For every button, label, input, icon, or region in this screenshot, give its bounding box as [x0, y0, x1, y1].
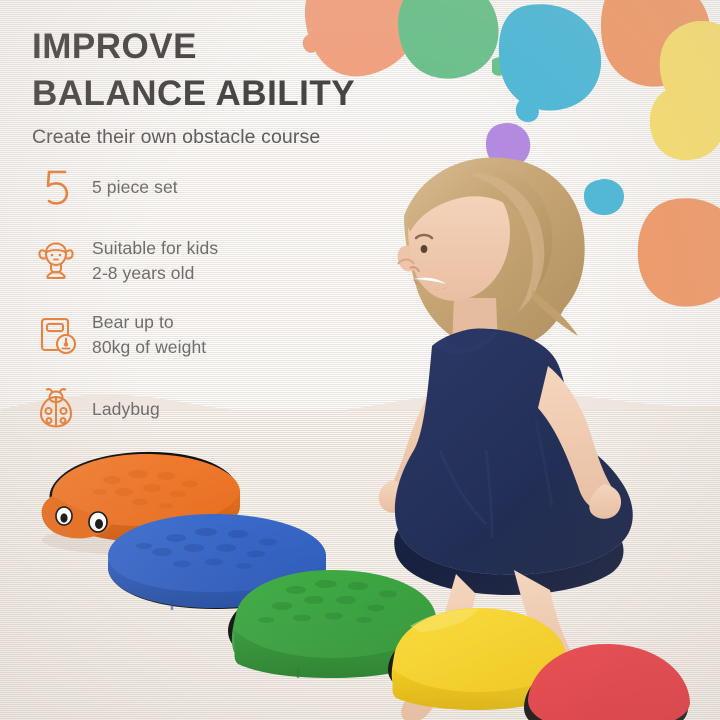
ladybug-icon — [30, 384, 82, 434]
feature-label: 5 piece set — [92, 175, 178, 200]
headline-block: IMPROVE BALANCE ABILITY Create their own… — [32, 24, 472, 149]
stepping-stones-product — [0, 430, 720, 720]
feature-label: Suitable for kids 2-8 years old — [92, 236, 218, 286]
pebble-yellow-3 — [650, 85, 720, 160]
pebble-teal-1 — [499, 4, 601, 122]
child-face-icon — [30, 236, 82, 286]
headline-line-1: IMPROVE — [32, 24, 472, 71]
feature-label: Ladybug — [92, 397, 160, 422]
subheadline: Create their own obstacle course — [32, 126, 472, 149]
feature-item-age-range: Suitable for kids 2-8 years old — [30, 232, 330, 290]
weight-scale-icon — [30, 310, 82, 360]
headline-line-2: BALANCE ABILITY — [32, 71, 472, 118]
feature-item-weight-limit: Bear up to 80kg of weight — [30, 306, 330, 364]
number-five-icon — [30, 162, 82, 212]
feature-list: 5 piece set Suitab — [30, 158, 330, 454]
product-banner: IMPROVE BALANCE ABILITY Create their own… — [0, 0, 720, 720]
feature-item-piece-count: 5 piece set — [30, 158, 330, 216]
feature-label: Bear up to 80kg of weight — [92, 310, 206, 360]
